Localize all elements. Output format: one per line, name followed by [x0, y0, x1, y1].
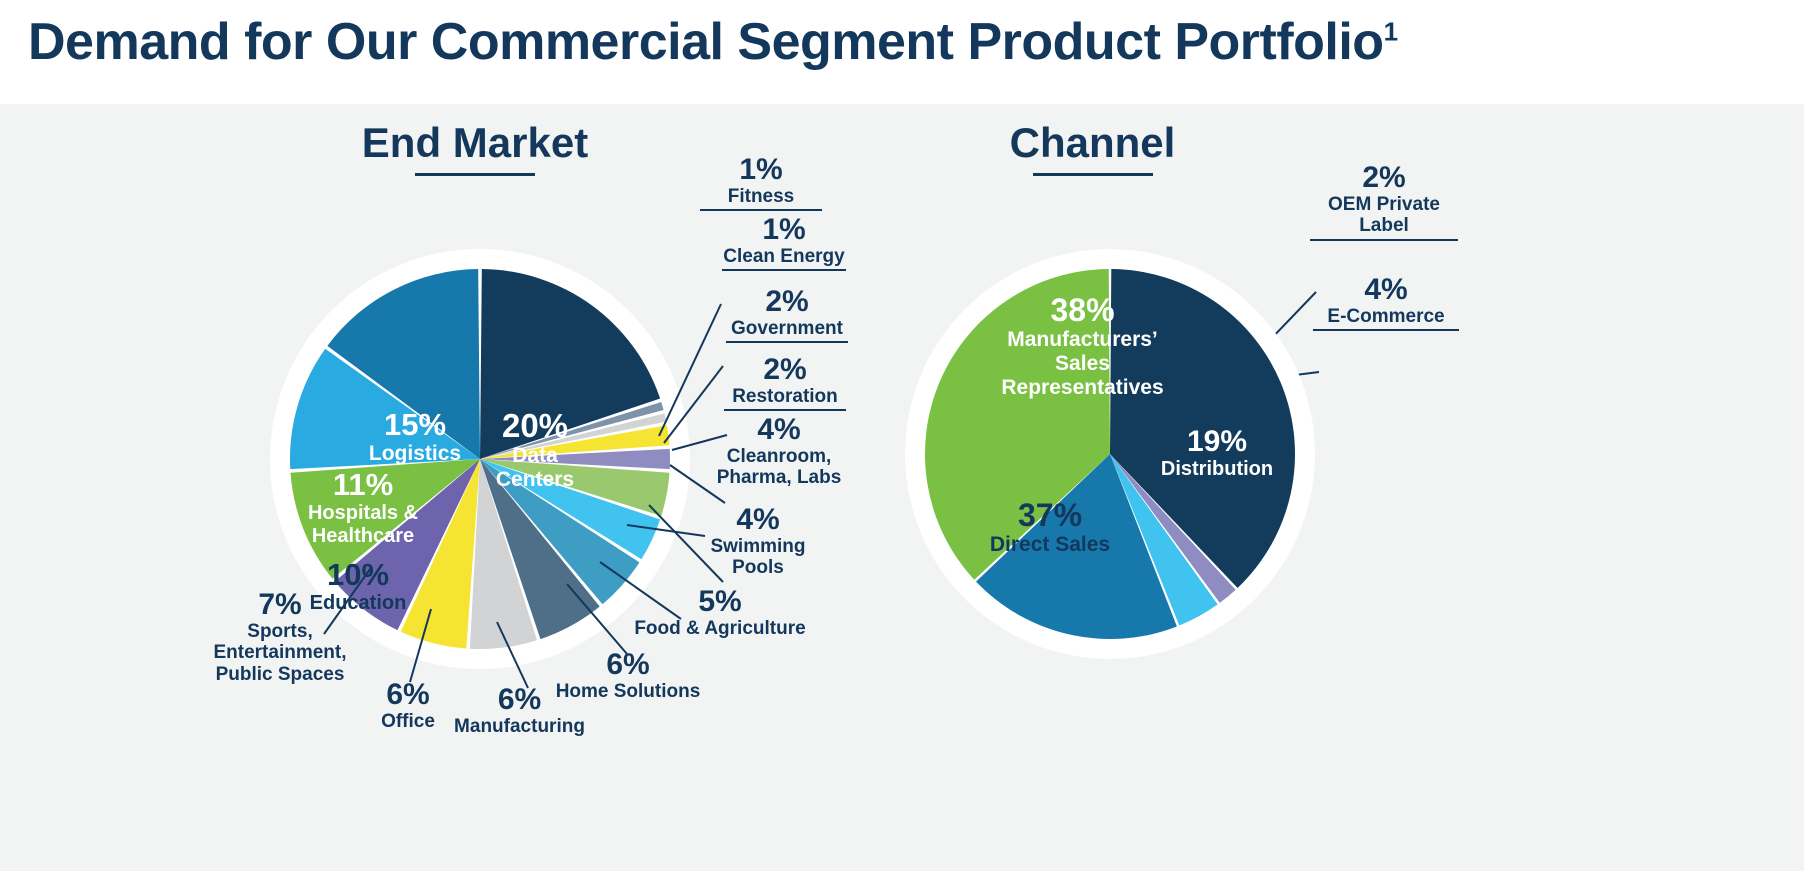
ecommerce-label: E-Commerce	[1313, 306, 1459, 328]
page-title-footnote-marker: 1	[1384, 17, 1398, 47]
office-label: Office	[358, 711, 458, 733]
clean-energy-label: Clean Energy	[722, 246, 846, 268]
page-title: Demand for Our Commercial Segment Produc…	[28, 12, 1398, 72]
manufacturing-pct: 6%	[447, 684, 592, 716]
title-bar: Demand for Our Commercial Segment Produc…	[0, 0, 1804, 104]
hospitals-label-2: Healthcare	[283, 525, 443, 548]
cleanroom-label-2: Pharma, Labs	[707, 467, 851, 489]
msr-label-2: Sales	[960, 352, 1205, 376]
direct-sales-label: Direct Sales	[960, 533, 1140, 557]
callout-restoration: 2% Restoration	[724, 354, 846, 411]
distribution-label: Distribution	[1142, 458, 1292, 481]
data-centers-label-1: Data	[470, 444, 600, 468]
restoration-rule	[724, 409, 846, 411]
slice-label-logistics: 15% Logistics	[345, 409, 485, 466]
sports-pct: 7%	[190, 589, 370, 621]
distribution-pct: 19%	[1142, 426, 1292, 458]
data-centers-label-2: Centers	[470, 468, 600, 492]
channel-heading-rule	[1033, 173, 1153, 176]
fitness-rule	[700, 209, 822, 211]
restoration-label: Restoration	[724, 386, 846, 408]
callout-cleanroom: 4% Cleanroom, Pharma, Labs	[707, 414, 851, 489]
slice-label-manufacturers-sales-reps: 38% Manufacturers’ Sales Representatives	[960, 294, 1205, 400]
government-label: Government	[726, 318, 848, 340]
slice-label-direct-sales: 37% Direct Sales	[960, 499, 1140, 557]
page-title-text: Demand for Our Commercial Segment Produc…	[28, 13, 1384, 71]
cleanroom-label-1: Cleanroom,	[707, 446, 851, 468]
callout-fitness: 1% Fitness	[700, 154, 822, 211]
oem-label-2: Label	[1310, 215, 1458, 237]
government-rule	[726, 341, 848, 343]
manufacturing-label: Manufacturing	[447, 716, 592, 738]
education-pct: 10%	[283, 559, 433, 592]
end-market-heading-text: End Market	[345, 122, 605, 164]
callout-e-commerce: 4% E-Commerce	[1313, 274, 1459, 331]
slide: Demand for Our Commercial Segment Produc…	[0, 0, 1804, 871]
callout-sports: 7% Sports, Entertainment, Public Spaces	[190, 589, 370, 686]
channel-heading: Channel	[995, 122, 1190, 176]
sports-label-1: Sports,	[190, 621, 370, 643]
fitness-label: Fitness	[700, 186, 822, 208]
logistics-label: Logistics	[345, 442, 485, 466]
clean-energy-rule	[722, 269, 846, 271]
callout-swimming-pools: 4% Swimming Pools	[696, 504, 820, 579]
food-pct: 5%	[630, 586, 810, 618]
callout-food-agriculture: 5% Food & Agriculture	[630, 586, 810, 639]
government-pct: 2%	[726, 286, 848, 318]
oem-rule	[1310, 239, 1458, 241]
logistics-pct: 15%	[345, 409, 485, 442]
ecommerce-rule	[1313, 329, 1459, 331]
clean-energy-pct: 1%	[722, 214, 846, 246]
slide-body: End Market Channel Data Centers 20%Fitne…	[0, 104, 1804, 871]
callout-oem-private-label: 2% OEM Private Label	[1310, 162, 1458, 241]
callout-government: 2% Government	[726, 286, 848, 343]
msr-pct: 38%	[960, 294, 1205, 328]
msr-label-1: Manufacturers’	[960, 328, 1205, 352]
msr-label-3: Representatives	[960, 376, 1205, 400]
pools-label-2: Pools	[696, 557, 820, 579]
pools-label-1: Swimming	[696, 536, 820, 558]
home-pct: 6%	[548, 649, 708, 681]
callout-office: 6% Office	[358, 679, 458, 732]
slice-label-hospitals: 11% Hospitals & Healthcare	[283, 469, 443, 548]
fitness-pct: 1%	[700, 154, 822, 186]
callout-clean-energy: 1% Clean Energy	[722, 214, 846, 271]
oem-label-1: OEM Private	[1310, 194, 1458, 216]
office-pct: 6%	[358, 679, 458, 711]
callout-manufacturing: 6% Manufacturing	[447, 684, 592, 737]
food-label: Food & Agriculture	[630, 618, 810, 640]
sports-label-3: Public Spaces	[190, 664, 370, 686]
oem-pct: 2%	[1310, 162, 1458, 194]
hospitals-pct: 11%	[283, 469, 443, 502]
cleanroom-pct: 4%	[707, 414, 851, 446]
sports-label-2: Entertainment,	[190, 642, 370, 664]
channel-heading-text: Channel	[995, 122, 1190, 164]
slice-label-distribution: 19% Distribution	[1142, 426, 1292, 481]
data-centers-pct: 20%	[470, 409, 600, 444]
end-market-heading-rule	[415, 173, 535, 176]
ecommerce-pct: 4%	[1313, 274, 1459, 306]
restoration-pct: 2%	[724, 354, 846, 386]
hospitals-label-1: Hospitals &	[283, 502, 443, 525]
end-market-heading: End Market	[345, 122, 605, 176]
pools-pct: 4%	[696, 504, 820, 536]
slice-label-data-centers: 20% Data Centers	[470, 409, 600, 492]
direct-sales-pct: 37%	[960, 499, 1140, 533]
